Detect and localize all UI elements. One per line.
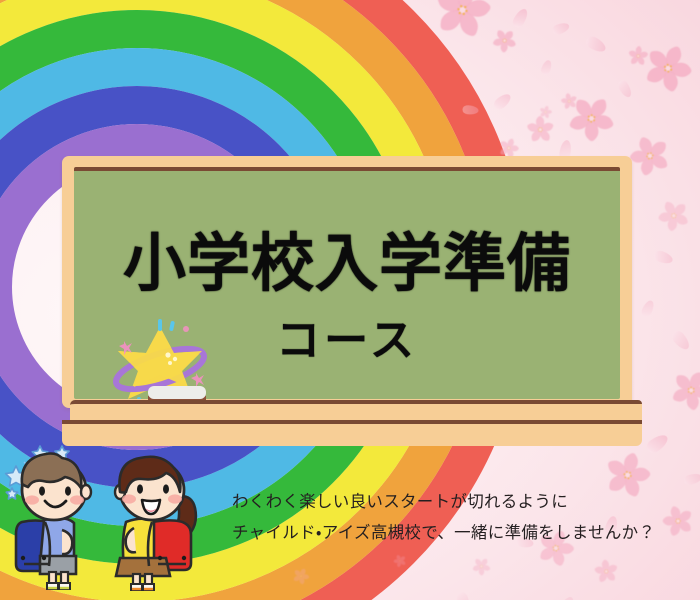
- sakura-petal: [616, 79, 634, 100]
- page-title: 小学校入学準備: [74, 233, 620, 296]
- sakura-flower: [631, 34, 700, 108]
- page-subtitle: コース: [74, 319, 620, 363]
- sakura-petal: [683, 472, 700, 486]
- chalkboard: 小学校入学準備 コース: [62, 156, 632, 408]
- sakura-petal: [640, 299, 656, 319]
- sakura-petal: [644, 432, 670, 456]
- sakura-flower: [554, 84, 627, 158]
- girl-student: [115, 457, 196, 590]
- sakura-petal: [584, 34, 608, 55]
- sakura-petal: [653, 249, 675, 266]
- caption-text: わくわく楽しい良いスタートが切れるように チャイルド・アイズ高槻校で、一緒に準備…: [232, 487, 692, 548]
- sakura-petal: [551, 21, 570, 36]
- eraser-body: [148, 386, 206, 399]
- sakura-flower: [659, 361, 700, 425]
- caption-line-1: わくわく楽しい良いスタートが切れるように: [232, 487, 692, 518]
- boy-student: [16, 454, 91, 590]
- poster-canvas: 小学校入学準備 コース: [0, 0, 700, 600]
- caption-line-2: チャイルド・アイズ高槻校で、一緒に準備をしませんか？: [232, 518, 692, 549]
- sakura-flower: [536, 104, 554, 126]
- sakura-petal: [670, 329, 693, 353]
- student-illustrations: [0, 438, 216, 600]
- sakura-flower: [584, 554, 623, 591]
- sakura-flower: [646, 192, 698, 244]
- sakura-flower: [553, 89, 582, 116]
- sakura-petal: [540, 59, 554, 76]
- sakura-petal: [558, 595, 576, 600]
- sakura-flower: [626, 44, 650, 73]
- chalkboard-surface: 小学校入学準備 コース: [74, 167, 620, 399]
